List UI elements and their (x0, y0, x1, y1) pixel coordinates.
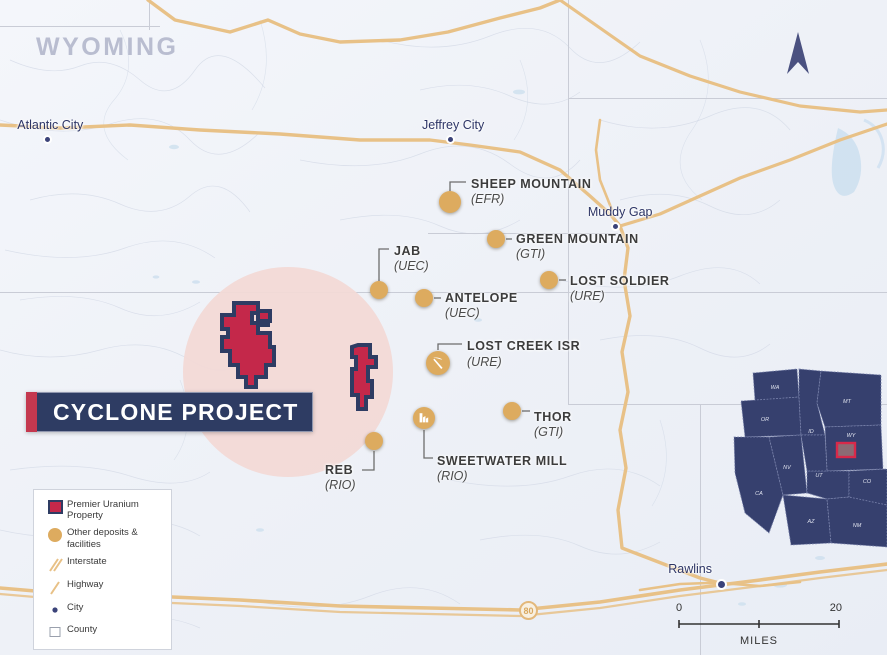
legend-key (43, 602, 67, 615)
deposit-label: THOR (534, 410, 572, 424)
banner-body: CYCLONE PROJECT (37, 392, 313, 432)
pickaxe-icon[interactable] (426, 351, 450, 375)
city-swatch-icon (49, 603, 61, 615)
highway-swatch-icon (46, 580, 64, 596)
legend-item-county: County (43, 624, 163, 640)
legend-item-interstate: Interstate (43, 556, 163, 573)
deposit-marker-icon[interactable] (540, 271, 558, 289)
deposit-label: SHEEP MOUNTAIN (471, 177, 591, 191)
deposit-marker-icon[interactable] (439, 191, 461, 213)
locator-inset-map: WA OR MT ID WY NV UT CO CA AZ NM (729, 363, 887, 549)
banner-accent-bar (26, 392, 37, 432)
legend-label: Highway (67, 579, 103, 590)
property-swatch-icon (48, 500, 63, 514)
legend-key (43, 624, 67, 639)
deposit-label: REB (325, 463, 353, 477)
deposit-marker-icon[interactable] (365, 432, 383, 450)
deposit-label: LOST CREEK ISR (467, 339, 580, 353)
legend-key (43, 499, 67, 514)
interstate-swatch-icon (46, 557, 64, 573)
legend-label: Other deposits & facilities (67, 527, 163, 549)
legend-label: County (67, 624, 97, 635)
uranium-project-map: WYOMING Atlantic City Jeffrey City Muddy… (0, 0, 887, 655)
legend-key (43, 527, 67, 542)
deposit-label: SWEETWATER MILL (437, 454, 567, 468)
legend-key (43, 556, 67, 573)
map-legend: Premier Uranium Property Other deposits … (33, 489, 172, 650)
deposit-label: GREEN MOUNTAIN (516, 232, 639, 246)
mill-glyph (417, 411, 431, 425)
inset-state-label: UT (815, 473, 823, 479)
deposit-label: JAB (394, 244, 421, 258)
inset-state-label: NM (853, 523, 862, 529)
scale-units-label: MILES (676, 635, 842, 647)
legend-item-deposits: Other deposits & facilities (43, 527, 163, 549)
inset-state-label: ID (808, 429, 814, 435)
deposit-operator: (UEC) (394, 259, 429, 273)
scale-max-label: 20 (830, 602, 842, 614)
mill-icon[interactable] (413, 407, 435, 429)
inset-state-label: NV (783, 465, 792, 471)
banner-title: CYCLONE PROJECT (53, 399, 298, 426)
inset-state-label: CO (863, 479, 872, 485)
deposit-operator: (URE) (467, 355, 502, 369)
inset-state-label: OR (761, 417, 769, 423)
deposit-label: ANTELOPE (445, 291, 518, 305)
legend-item-highway: Highway (43, 579, 163, 596)
deposit-marker-icon[interactable] (503, 402, 521, 420)
deposit-operator: (GTI) (534, 425, 563, 439)
deposit-operator: (URE) (570, 289, 605, 303)
legend-key (43, 579, 67, 596)
inset-state-label: WY (847, 433, 856, 439)
scale-min-label: 0 (676, 602, 682, 614)
legend-label: Premier Uranium Property (67, 499, 163, 521)
deposit-marker-icon[interactable] (487, 230, 505, 248)
inset-state-label: AZ (806, 519, 815, 525)
scale-bar-graphic (676, 619, 842, 628)
deposit-label: LOST SOLDIER (570, 274, 670, 288)
north-arrow-icon (783, 28, 813, 80)
county-swatch-icon (48, 625, 62, 639)
scale-bar: 0 20 MILES (676, 602, 842, 647)
cyclone-project-banner: CYCLONE PROJECT (26, 392, 313, 432)
deposit-operator: (RIO) (437, 469, 468, 483)
deposit-operator: (EFR) (471, 192, 504, 206)
deposit-swatch-icon (48, 528, 62, 542)
inset-state-label: CA (755, 491, 763, 497)
legend-item-property: Premier Uranium Property (43, 499, 163, 521)
interstate-shield-icon: 80 (519, 601, 538, 620)
deposit-operator: (GTI) (516, 247, 545, 261)
legend-label: City (67, 602, 83, 613)
pickaxe-glyph (430, 355, 446, 371)
deposit-operator: (UEC) (445, 306, 480, 320)
legend-label: Interstate (67, 556, 107, 567)
scale-numbers: 0 20 (676, 602, 842, 615)
inset-state-label: WA (771, 385, 780, 391)
deposit-operator: (RIO) (325, 478, 356, 492)
inset-state-label: MT (843, 399, 852, 405)
legend-item-city: City (43, 602, 163, 618)
inset-project-highlight (837, 443, 855, 457)
deposit-marker-icon[interactable] (415, 289, 433, 307)
deposit-marker-icon[interactable] (370, 281, 388, 299)
